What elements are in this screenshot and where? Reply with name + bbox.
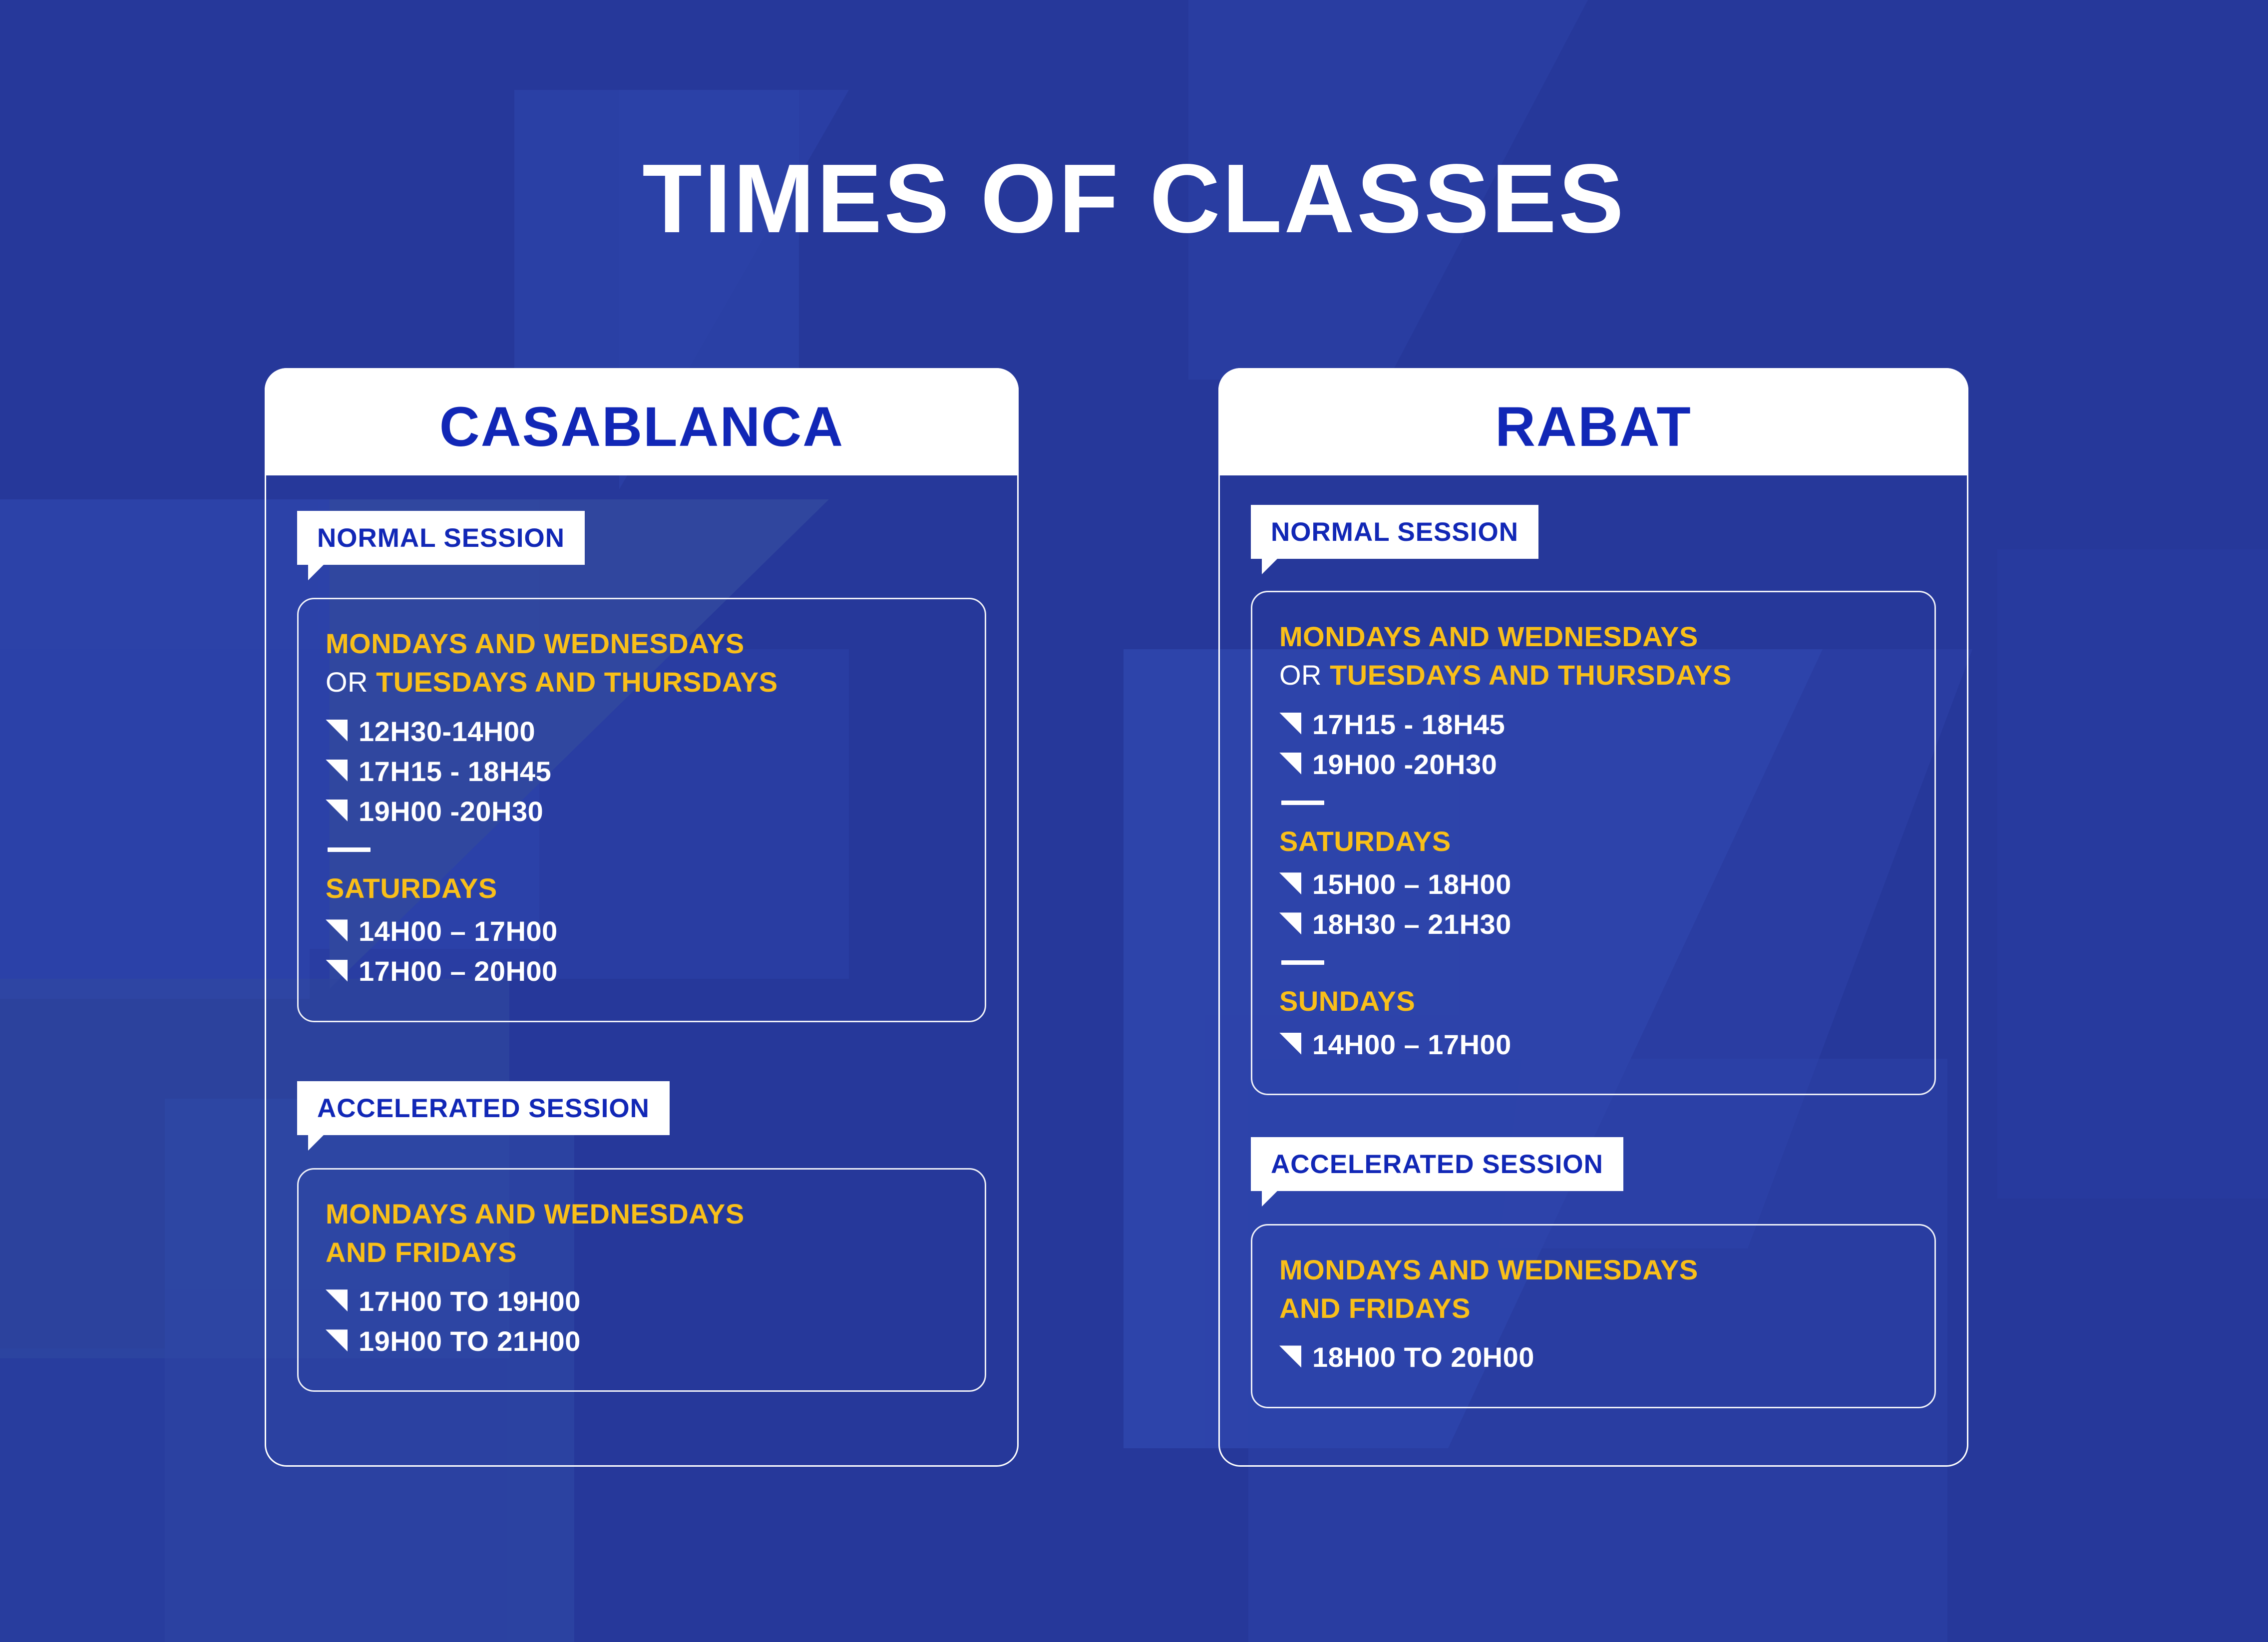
- triangle-bullet-icon: [326, 919, 348, 941]
- or-label: OR: [326, 666, 376, 698]
- day-group: MONDAYS AND WEDNESDAYS AND FRIDAYS 17H00…: [326, 1195, 958, 1361]
- session-badge-wrap: ACCELERATED SESSION: [297, 1081, 986, 1135]
- time-list: 15H00 – 18H00 18H30 – 21H30: [1279, 865, 1907, 943]
- time-row: 17H00 – 20H00: [326, 952, 958, 990]
- city-title-rabat: RABAT: [1218, 368, 1968, 475]
- day-line: SUNDAYS: [1279, 982, 1907, 1020]
- triangle-bullet-icon: [326, 720, 348, 742]
- day-line: OR TUESDAYS AND THURSDAYS: [1279, 656, 1907, 694]
- time-row: 19H00 -20H30: [326, 793, 958, 830]
- session-badge-wrap: NORMAL SESSION: [1251, 505, 1936, 559]
- time-list: 17H00 TO 19H00 19H00 TO 21H00: [326, 1282, 958, 1360]
- time-value: 19H00 -20H30: [1312, 746, 1497, 784]
- triangle-bullet-icon: [1279, 713, 1301, 735]
- day-group: SATURDAYS 15H00 – 18H00 18H30 – 21H30: [1279, 822, 1907, 944]
- card-body-casablanca: NORMAL SESSION MONDAYS AND WEDNESDAYS OR…: [266, 477, 1017, 1392]
- day-line: SATURDAYS: [1279, 822, 1907, 860]
- card-body-rabat: NORMAL SESSION MONDAYS AND WEDNESDAYS OR…: [1220, 477, 1967, 1408]
- time-value: 17H15 - 18H45: [1312, 706, 1505, 744]
- triangle-bullet-icon: [1279, 1345, 1301, 1367]
- schedule-box-accelerated: MONDAYS AND WEDNESDAYS AND FRIDAYS 18H00…: [1251, 1224, 1936, 1408]
- time-row: 14H00 – 17H00: [1279, 1026, 1907, 1064]
- day-line: MONDAYS AND WEDNESDAYS: [1279, 1250, 1907, 1289]
- time-list: 14H00 – 17H00: [1279, 1026, 1907, 1064]
- badge-normal-session: NORMAL SESSION: [297, 511, 585, 565]
- time-value: 19H00 TO 21H00: [359, 1322, 581, 1360]
- time-value: 14H00 – 17H00: [1312, 1026, 1512, 1064]
- time-value: 14H00 – 17H00: [359, 912, 558, 950]
- badge-normal-session: NORMAL SESSION: [1251, 505, 1538, 559]
- triangle-bullet-icon: [1279, 912, 1301, 934]
- triangle-bullet-icon: [326, 800, 348, 821]
- day-group: MONDAYS AND WEDNESDAYS AND FRIDAYS 18H00…: [1279, 1250, 1907, 1377]
- triangle-bullet-icon: [1279, 872, 1301, 894]
- time-row: 19H00 TO 21H00: [326, 1322, 958, 1360]
- day-group: SATURDAYS 14H00 – 17H00 17H00 – 20H00: [326, 869, 958, 991]
- schedule-box-normal: MONDAYS AND WEDNESDAYS OR TUESDAYS AND T…: [1251, 591, 1936, 1095]
- triangle-bullet-icon: [1279, 753, 1301, 775]
- day-line: OR TUESDAYS AND THURSDAYS: [326, 663, 958, 701]
- time-row: 15H00 – 18H00: [1279, 865, 1907, 903]
- city-card-casablanca: CASABLANCA NORMAL SESSION MONDAYS AND WE…: [265, 368, 1019, 1467]
- time-value: 17H00 – 20H00: [359, 952, 558, 990]
- time-row: 17H00 TO 19H00: [326, 1282, 958, 1320]
- schedule-box-normal: MONDAYS AND WEDNESDAYS OR TUESDAYS AND T…: [297, 598, 986, 1022]
- triangle-bullet-icon: [326, 1329, 348, 1351]
- time-list: 17H15 - 18H45 19H00 -20H30: [1279, 706, 1907, 784]
- city-title-casablanca: CASABLANCA: [265, 368, 1019, 475]
- day-line: AND FRIDAYS: [326, 1233, 958, 1271]
- city-card-rabat: RABAT NORMAL SESSION MONDAYS AND WEDNESD…: [1218, 368, 1968, 1467]
- time-value: 15H00 – 18H00: [1312, 865, 1512, 903]
- time-list: 18H00 TO 20H00: [1279, 1338, 1907, 1376]
- day-line: SATURDAYS: [326, 869, 958, 907]
- day-group: MONDAYS AND WEDNESDAYS OR TUESDAYS AND T…: [1279, 617, 1907, 784]
- time-value: 18H30 – 21H30: [1312, 905, 1512, 943]
- time-row: 18H30 – 21H30: [1279, 905, 1907, 943]
- time-value: 17H15 - 18H45: [359, 753, 551, 791]
- day-line: MONDAYS AND WEDNESDAYS: [326, 1195, 958, 1233]
- time-list: 14H00 – 17H00 17H00 – 20H00: [326, 912, 958, 990]
- section-divider: [328, 847, 371, 852]
- session-badge-wrap: NORMAL SESSION: [297, 511, 986, 565]
- day-line: MONDAYS AND WEDNESDAYS: [1279, 617, 1907, 656]
- time-row: 19H00 -20H30: [1279, 746, 1907, 784]
- triangle-bullet-icon: [326, 760, 348, 782]
- schedule-box-accelerated: MONDAYS AND WEDNESDAYS AND FRIDAYS 17H00…: [297, 1168, 986, 1392]
- triangle-bullet-icon: [326, 960, 348, 982]
- session-badge-wrap: ACCELERATED SESSION: [1251, 1137, 1936, 1191]
- section-divider: [1281, 960, 1324, 965]
- time-value: 12H30-14H00: [359, 713, 535, 751]
- day-line: AND FRIDAYS: [1279, 1289, 1907, 1327]
- time-value: 17H00 TO 19H00: [359, 1282, 581, 1320]
- badge-accelerated-session: ACCELERATED SESSION: [1251, 1137, 1623, 1191]
- time-row: 17H15 - 18H45: [326, 753, 958, 791]
- triangle-bullet-icon: [1279, 1033, 1301, 1055]
- time-value: 18H00 TO 20H00: [1312, 1338, 1534, 1376]
- time-list: 12H30-14H00 17H15 - 18H45 19H00 -20H30: [326, 713, 958, 830]
- page-title: TIMES OF CLASSES: [0, 150, 2268, 248]
- time-row: 18H00 TO 20H00: [1279, 1338, 1907, 1376]
- time-value: 19H00 -20H30: [359, 793, 543, 830]
- triangle-bullet-icon: [326, 1289, 348, 1311]
- badge-accelerated-session: ACCELERATED SESSION: [297, 1081, 670, 1135]
- day-line: MONDAYS AND WEDNESDAYS: [326, 624, 958, 663]
- time-row: 14H00 – 17H00: [326, 912, 958, 950]
- day-group: MONDAYS AND WEDNESDAYS OR TUESDAYS AND T…: [326, 624, 958, 830]
- time-row: 17H15 - 18H45: [1279, 706, 1907, 744]
- time-row: 12H30-14H00: [326, 713, 958, 751]
- section-divider: [1281, 801, 1324, 805]
- or-label: OR: [1279, 659, 1330, 691]
- day-group: SUNDAYS 14H00 – 17H00: [1279, 982, 1907, 1063]
